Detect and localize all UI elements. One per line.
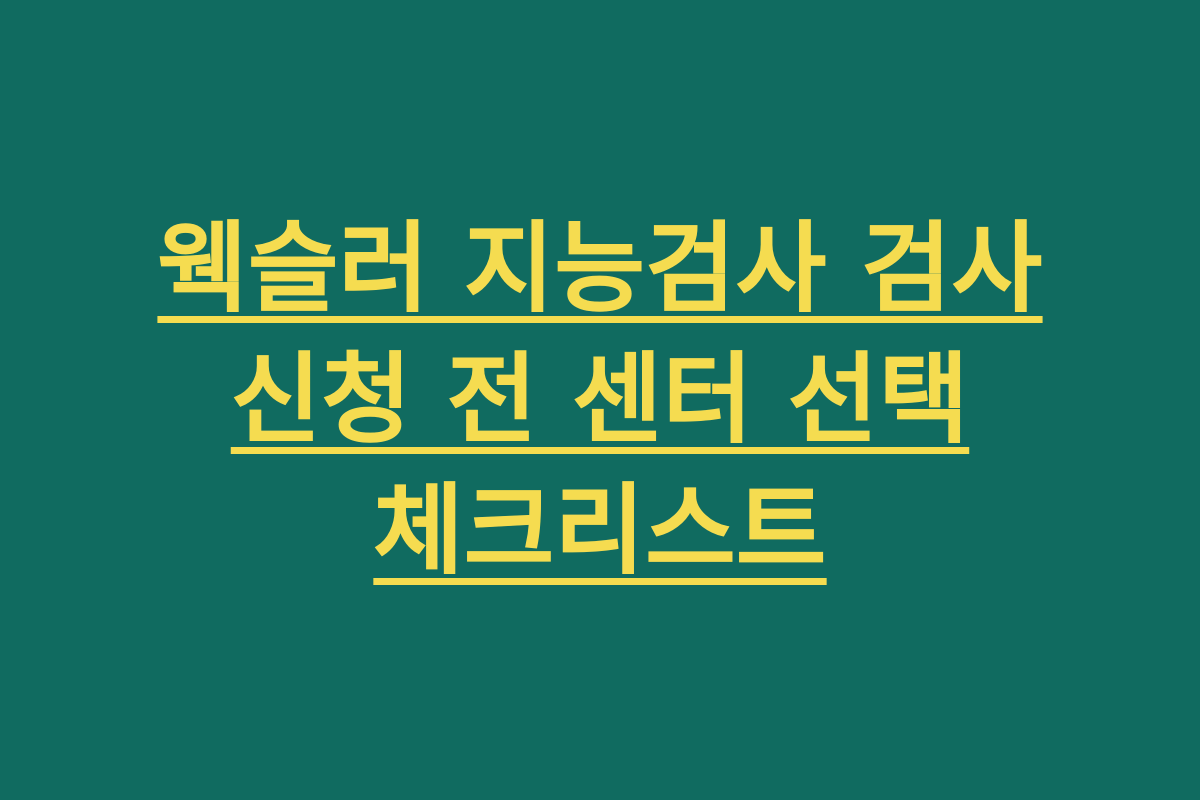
poster-title: 웩슬러 지능검사 검사 신청 전 센터 선택 체크리스트 [92,204,1108,597]
poster-title-container: 웩슬러 지능검사 검사 신청 전 센터 선택 체크리스트 [92,204,1108,597]
poster-canvas: 웩슬러 지능검사 검사 신청 전 센터 선택 체크리스트 [0,0,1200,800]
